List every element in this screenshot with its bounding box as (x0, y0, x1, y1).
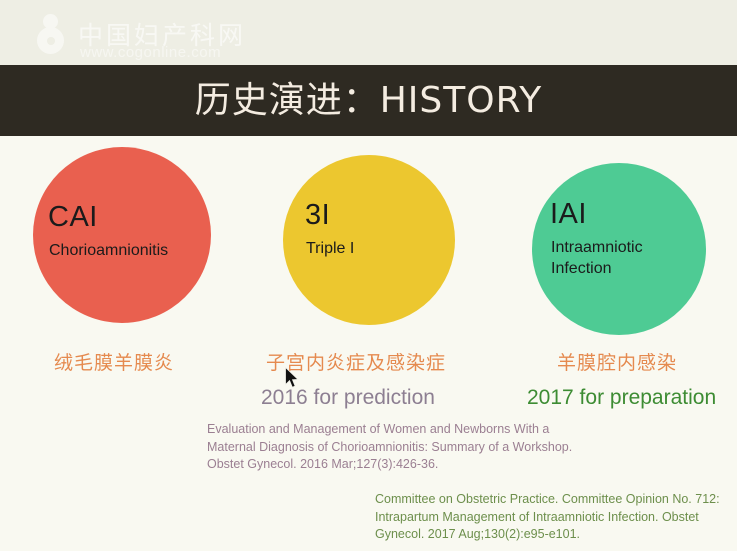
title-band: 历史演进：HISTORY (0, 65, 737, 136)
baby-logo-icon (32, 14, 70, 54)
circle-cai-full: Chorioamnionitis (49, 240, 168, 261)
watermark-url-text: www.cogonline.com (80, 44, 221, 61)
cn-label-cai: 绒毛膜羊膜炎 (54, 348, 174, 375)
citation-2016: Evaluation and Management of Women and N… (207, 421, 577, 474)
circle-cai-abbr: CAI (48, 201, 98, 234)
year-line-2016: 2016 for prediction (261, 386, 435, 410)
cn-label-iai: 羊膜腔内感染 (557, 348, 677, 375)
slide-canvas: 中国妇产科网 www.cogonline.com 历史演进：HISTORY CA… (0, 0, 737, 551)
logo-inner-dot (47, 37, 55, 45)
year-line-2017: 2017 for preparation (527, 386, 716, 410)
circle-3i: 3I Triple I (283, 155, 455, 325)
cn-label-three-i: 子宫内炎症及感染症 (266, 348, 446, 375)
citation-2017: Committee on Obstetric Practice. Committ… (375, 491, 735, 544)
circle-3i-full: Triple I (306, 238, 354, 259)
page-title: 历史演进：HISTORY (0, 65, 737, 136)
circle-iai-abbr: IAI (550, 198, 587, 231)
circle-3i-abbr: 3I (305, 199, 330, 232)
watermark-strip: 中国妇产科网 www.cogonline.com (0, 0, 737, 65)
circle-cai: CAI Chorioamnionitis (33, 147, 211, 323)
circle-iai: IAI Intraamniotic Infection (532, 163, 706, 335)
circle-iai-full: Intraamniotic Infection (551, 237, 643, 279)
